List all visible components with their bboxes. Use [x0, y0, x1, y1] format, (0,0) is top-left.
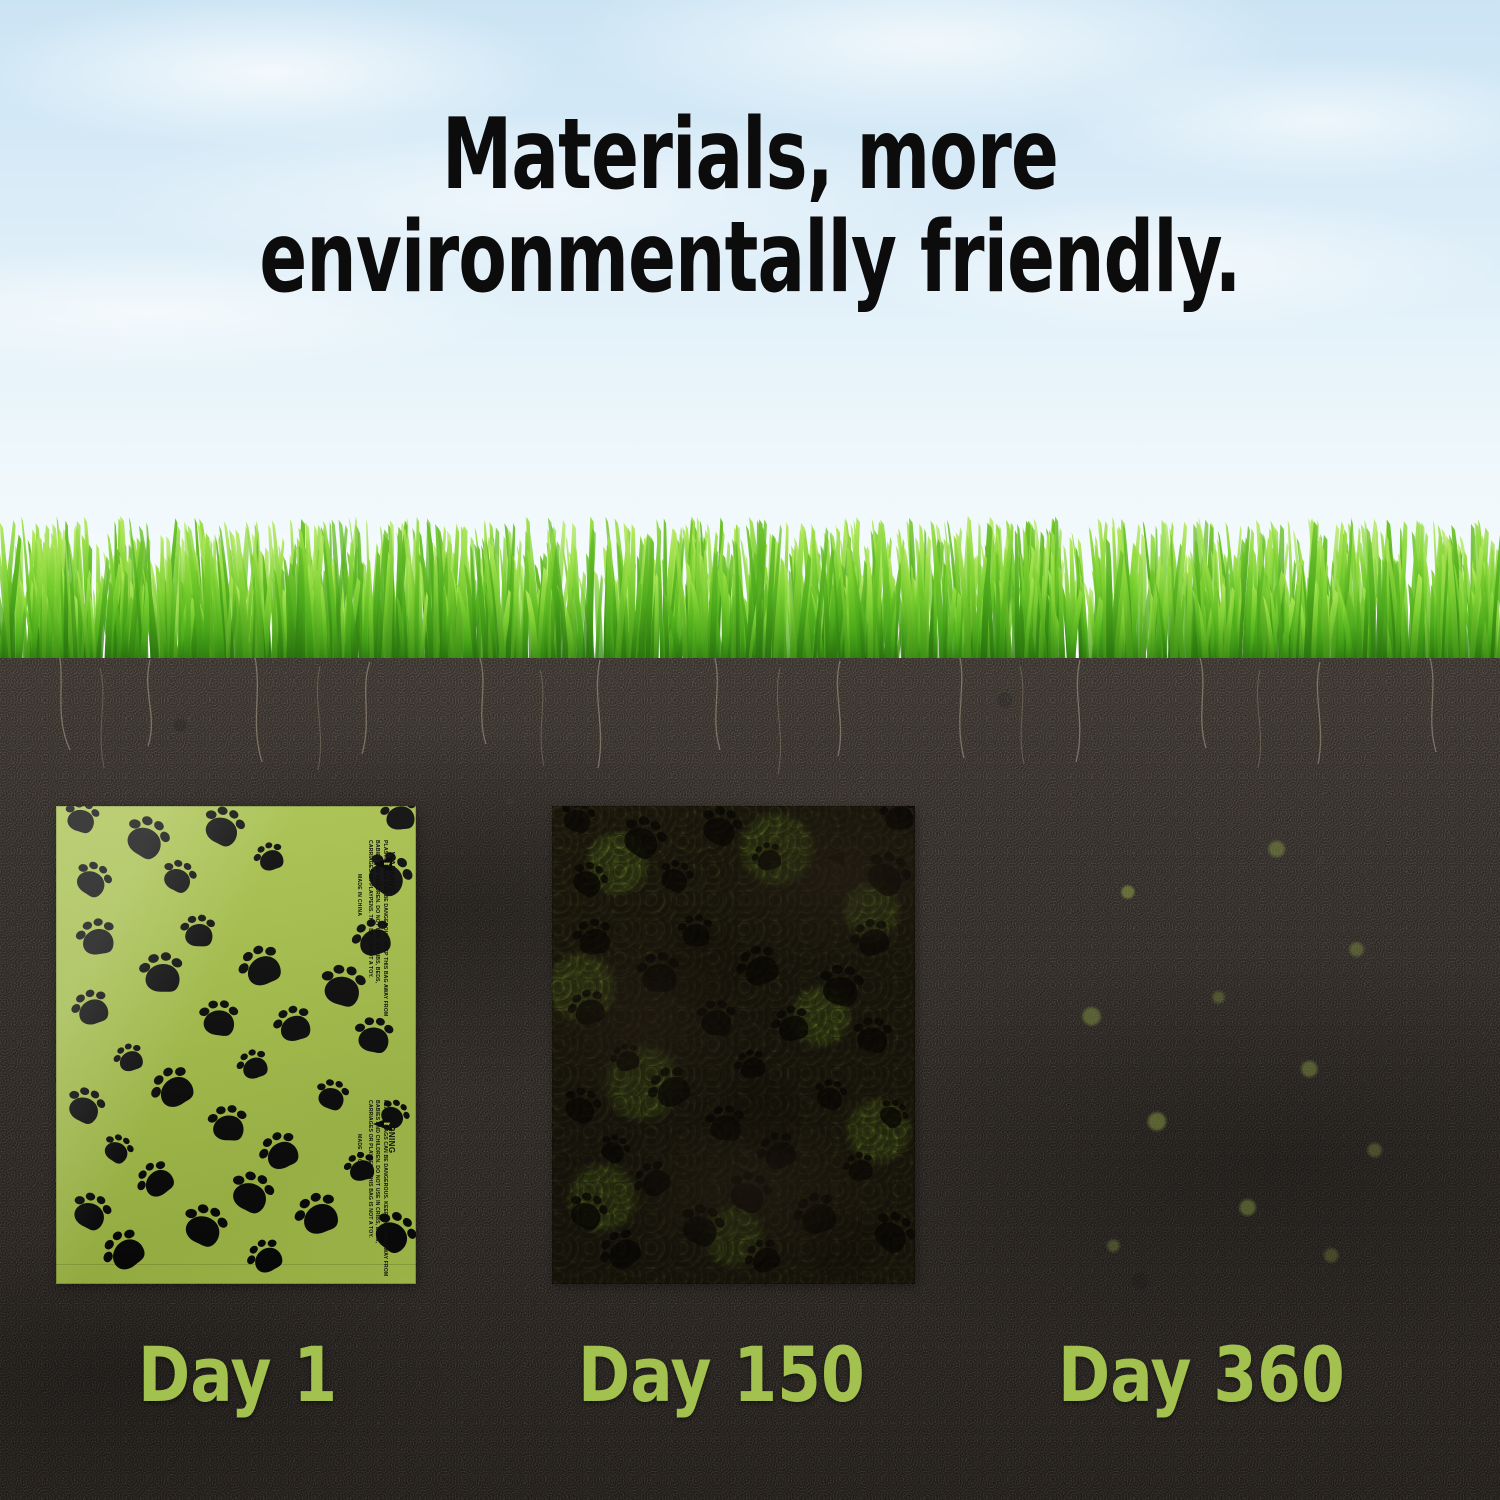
- bag-day1: WARNING PLASTIC BAGS CAN BE DANGEROUS. K…: [56, 806, 416, 1284]
- warning-body-line1-top: PLASTIC BAGS CAN BE DANGEROUS. KEEP THIS…: [381, 840, 388, 1016]
- warning-heading-bottom: WARNING: [387, 1112, 396, 1153]
- warning-body-line2-top: BABIES AND CHILDREN. DO NOT USE IN CRIBS…: [373, 840, 380, 983]
- bag-day150: [552, 806, 915, 1284]
- bag-day360: [1048, 806, 1411, 1284]
- grass-strip: [0, 508, 1500, 668]
- warning-print-block-top: WARNING PLASTIC BAGS CAN BE DANGEROUS. K…: [352, 830, 412, 970]
- warning-body-line1-bottom: PLASTIC BAGS CAN BE DANGEROUS. KEEP THIS…: [381, 1100, 388, 1276]
- warning-footer-top: MADE IN CHINA: [356, 874, 362, 916]
- warning-print-block-bottom: WARNING PLASTIC BAGS CAN BE DANGEROUS. K…: [352, 1090, 412, 1230]
- grass-blades-icon: [0, 508, 1500, 668]
- stage-label-day150: Day 150: [578, 1337, 865, 1413]
- headline-title: Materials, more environmentally friendly…: [150, 104, 1350, 310]
- warning-body-line2-bottom: BABIES AND CHILDREN. DO NOT USE IN CRIBS…: [373, 1100, 380, 1243]
- warning-triangle-icon-faded: [824, 850, 846, 866]
- bag-seam-line: [56, 1264, 416, 1265]
- infographic-scene: Materials, more environmentally friendly…: [0, 0, 1500, 1500]
- warning-body-line3-bottom: CARRIAGES OR PLAYPENS. THIS BAG IS NOT A…: [366, 1100, 373, 1238]
- bag-residue-flecks: [1048, 806, 1411, 1284]
- warning-footer-bottom: MADE IN CHINA: [356, 1134, 362, 1176]
- stage-label-day1: Day 1: [138, 1337, 337, 1413]
- warning-heading-top: WARNING: [387, 852, 396, 893]
- warning-body-line3-top: CARRIAGES OR PLAYPENS. THIS BAG IS NOT A…: [366, 840, 373, 978]
- stage-label-day360: Day 360: [1058, 1337, 1345, 1413]
- bag-soil-bleed-overlay: [552, 806, 915, 1284]
